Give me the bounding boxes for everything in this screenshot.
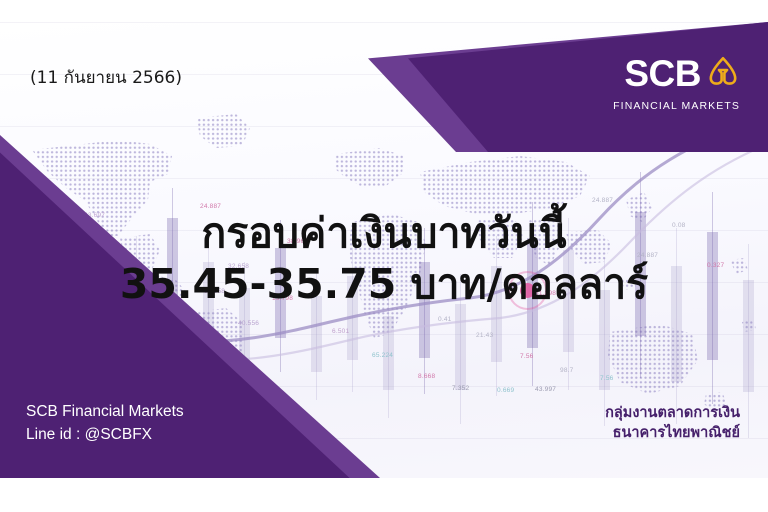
background-number: 21.43: [476, 332, 493, 339]
background-number: 43.997: [535, 386, 556, 393]
date-label: (11 กันยายน 2566): [30, 64, 182, 91]
background-number: 0.669: [497, 387, 514, 394]
scb-logo: SCB FINANCIAL MARKETS: [613, 54, 740, 112]
scb-wordmark: SCB: [624, 55, 701, 92]
background-number: 0.41: [438, 316, 451, 323]
scb-leaf-icon: [706, 54, 740, 93]
background-number: 65.224: [372, 352, 393, 359]
scb-logo-subtitle: FINANCIAL MARKETS: [613, 100, 740, 112]
background-number: 24.887: [592, 197, 613, 204]
footer-left-line-1: SCB Financial Markets: [26, 401, 184, 423]
banner-card: 43.69724.88765.22438.96232.65899.53743.9…: [0, 22, 768, 478]
background-number: 98.7: [560, 367, 573, 374]
footer-left: SCB Financial Markets Line id : @SCBFX: [26, 401, 184, 446]
headline-line-1: กรอบค่าเงินบาทวันนี้: [0, 210, 768, 257]
background-number: 7.56: [520, 353, 533, 360]
background-number: 40.556: [238, 320, 259, 327]
background-number: 7.56: [600, 375, 613, 382]
background-number: 8.668: [418, 373, 435, 380]
footer-right-line-2: ธนาคารไทยพาณิชย์: [605, 423, 740, 444]
background-number: 7.352: [452, 385, 469, 392]
footer-right-line-1: กลุ่มงานตลาดการเงิน: [605, 403, 740, 424]
footer-left-line-2: Line id : @SCBFX: [26, 424, 184, 446]
footer-right: กลุ่มงานตลาดการเงิน ธนาคารไทยพาณิชย์: [605, 403, 740, 444]
background-number: 6.501: [332, 328, 349, 335]
headline-line-2: 35.45-35.75 บาท/ดอลลาร์: [0, 261, 768, 308]
headline: กรอบค่าเงินบาทวันนี้ 35.45-35.75 บาท/ดอล…: [0, 210, 768, 307]
